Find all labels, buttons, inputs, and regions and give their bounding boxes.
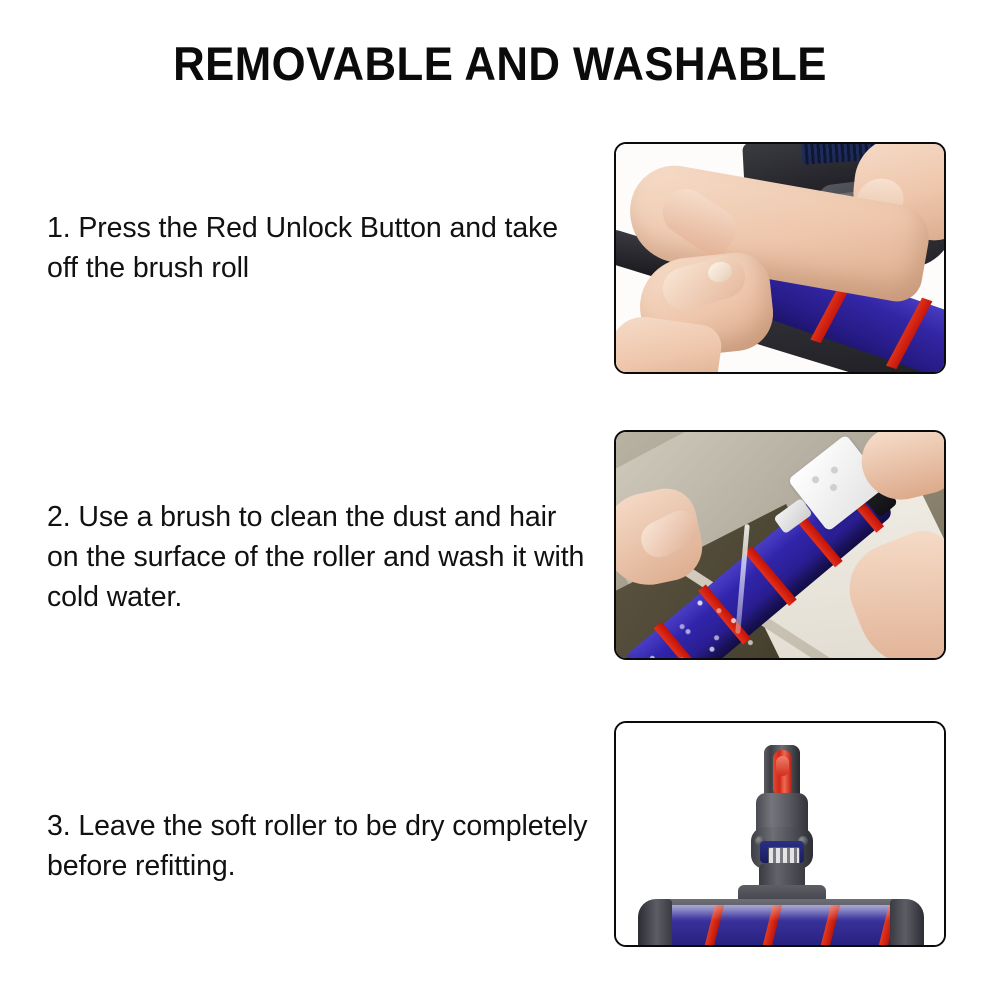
step-2-text: 2. Use a brush to clean the dust and hai… xyxy=(47,497,592,617)
head-end-cap-left xyxy=(638,899,672,945)
step-1-scene xyxy=(616,144,944,372)
step-2-scene xyxy=(616,432,944,658)
step-3-scene xyxy=(616,723,944,945)
roller-red-stripe xyxy=(886,298,933,370)
red-unlock-button-nub xyxy=(776,756,789,776)
step-3-text: 3. Leave the soft roller to be dry compl… xyxy=(47,806,592,886)
step-3-photo xyxy=(614,721,946,947)
infographic-page: REMOVABLE AND WASHABLE 1. Press the Red … xyxy=(0,0,1000,1000)
step-1-text: 1. Press the Red Unlock Button and take … xyxy=(47,208,592,288)
page-title: REMOVABLE AND WASHABLE xyxy=(35,36,965,91)
water-splash xyxy=(664,570,784,658)
head-end-cap-right xyxy=(890,899,924,945)
step-1-photo xyxy=(614,142,946,374)
roller-window-gloss xyxy=(654,905,908,921)
step-2-photo xyxy=(614,430,946,660)
